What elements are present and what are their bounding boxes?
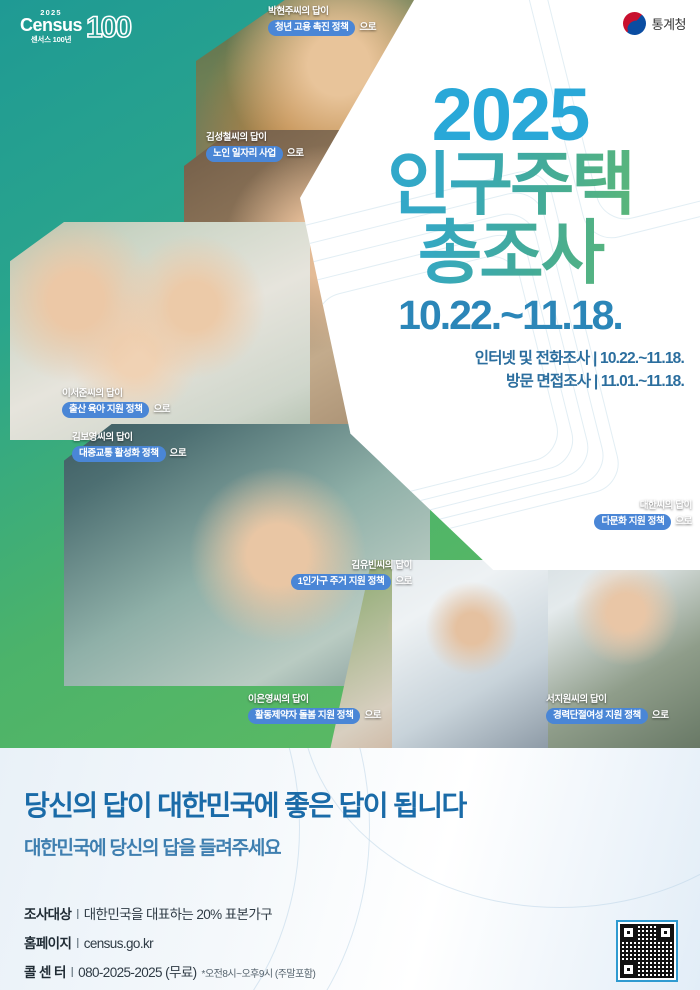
contact-separator: l bbox=[76, 907, 78, 922]
caption-suffix: 으로 bbox=[359, 22, 376, 34]
title-line-2: 총조사 bbox=[330, 219, 690, 288]
caption-person: 서지원씨의 답이 bbox=[546, 694, 669, 706]
slogan-main: 당신의 답이 대한민국에 좋은 답이 됩니다 bbox=[24, 784, 466, 824]
caption-suffix: 으로 bbox=[652, 710, 669, 722]
caption-person: 이서준씨의 답이 bbox=[62, 388, 170, 400]
contact-value: 대한민국을 대표하는 20% 표본가구 bbox=[84, 903, 272, 923]
caption-suffix: 으로 bbox=[287, 148, 304, 160]
contact-label: 콜 센 터 bbox=[24, 961, 66, 981]
logo-korean-text: 센서스 100년 bbox=[14, 34, 88, 45]
title-date-range: 10.22.~11.18. bbox=[330, 293, 690, 338]
taegeuk-icon bbox=[623, 12, 646, 35]
slogan-sub: 대한민국에 당신의 답을 들려주세요 bbox=[24, 833, 466, 860]
caption-person: 김유빈씨의 답이 bbox=[291, 560, 412, 572]
statistics-korea-logo: 통계청 bbox=[623, 10, 686, 36]
contact-row-target: 조사대상 l 대한민국을 대표하는 20% 표본가구 bbox=[24, 903, 315, 923]
callcenter-hours: *오전8시~오후9시 (주말포함) bbox=[202, 965, 316, 980]
phone-number[interactable]: 080-2025-2025 (무료) bbox=[78, 961, 196, 981]
caption-person: 이은영씨의 답이 bbox=[248, 694, 381, 706]
caption-policy-badge: 출산 육아 지원 정책 bbox=[62, 402, 149, 418]
caption-multicultural: 대한씨의 답이 다문화 지원 정책 으로 bbox=[594, 500, 692, 530]
photo-single-household bbox=[392, 560, 552, 748]
agency-name: 통계청 bbox=[652, 14, 686, 33]
caption-suffix: 으로 bbox=[675, 516, 692, 528]
caption-care-support: 이은영씨의 답이 활동제약자 돌봄 지원 정책 으로 bbox=[248, 694, 381, 724]
caption-policy-badge: 경력단절여성 지원 정책 bbox=[546, 708, 648, 724]
caption-suffix: 으로 bbox=[395, 576, 412, 588]
survey-method-visit: 방문 면접조사 | 11.01.~11.18. bbox=[330, 370, 684, 393]
anniversary-100-icon: 100 bbox=[86, 11, 130, 45]
logo-wordmark: Census bbox=[14, 17, 88, 34]
contact-label: 조사대상 bbox=[24, 903, 71, 923]
caption-policy-badge: 청년 고용 촉진 정책 bbox=[268, 20, 355, 36]
contact-label: 홈페이지 bbox=[24, 932, 71, 952]
caption-single-household: 김유빈씨의 답이 1인가구 주거 지원 정책 으로 bbox=[291, 560, 412, 590]
caption-senior-jobs: 김성철씨의 답이 노인 일자리 사업 으로 bbox=[206, 132, 304, 162]
website-link[interactable]: census.go.kr bbox=[84, 936, 153, 951]
contact-row-callcenter: 콜 센 터 l 080-2025-2025 (무료) *오전8시~오후9시 (주… bbox=[24, 961, 315, 981]
title-line-1: 인구주택 bbox=[387, 145, 633, 223]
caption-person: 김보영씨의 답이 bbox=[72, 432, 186, 444]
census-poster: 2025 Census 센서스 100년 100 통계청 박현주씨의 답이 청년… bbox=[0, 0, 700, 990]
caption-person: 김성철씨의 답이 bbox=[206, 132, 304, 144]
survey-method-online: 인터넷 및 전화조사 | 10.22.~11.18. bbox=[330, 347, 684, 370]
caption-childcare: 이서준씨의 답이 출산 육아 지원 정책 으로 bbox=[62, 388, 170, 418]
contact-separator: l bbox=[71, 965, 73, 980]
caption-suffix: 으로 bbox=[170, 448, 187, 460]
contact-info: 조사대상 l 대한민국을 대표하는 20% 표본가구 홈페이지 l census… bbox=[24, 903, 315, 990]
caption-suffix: 으로 bbox=[153, 404, 170, 416]
contact-separator: l bbox=[76, 936, 78, 951]
caption-person: 대한씨의 답이 bbox=[594, 500, 692, 512]
caption-suffix: 으로 bbox=[364, 710, 381, 722]
qr-code-icon bbox=[620, 924, 674, 978]
slogan-block: 당신의 답이 대한민국에 좋은 답이 됩니다 대한민국에 당신의 답을 들려주세… bbox=[24, 784, 466, 860]
photo-collage: 2025 Census 센서스 100년 100 통계청 박현주씨의 답이 청년… bbox=[0, 0, 700, 748]
caption-career-women: 서지원씨의 답이 경력단절여성 지원 정책 으로 bbox=[546, 694, 669, 724]
caption-policy-badge: 노인 일자리 사업 bbox=[206, 146, 283, 162]
qr-code[interactable] bbox=[616, 920, 678, 982]
contact-row-website: 홈페이지 l census.go.kr bbox=[24, 932, 315, 952]
caption-youth-employment: 박현주씨의 답이 청년 고용 촉진 정책 으로 bbox=[268, 6, 376, 36]
title-main: 인구주택 총조사 bbox=[330, 150, 690, 287]
census-100-logo: 2025 Census 센서스 100년 100 bbox=[14, 8, 146, 46]
caption-person: 박현주씨의 답이 bbox=[268, 6, 376, 18]
caption-policy-badge: 활동제약자 돌봄 지원 정책 bbox=[248, 708, 360, 724]
survey-methods: 인터넷 및 전화조사 | 10.22.~11.18. 방문 면접조사 | 11.… bbox=[330, 347, 690, 394]
caption-policy-badge: 1인가구 주거 지원 정책 bbox=[291, 574, 392, 590]
caption-policy-badge: 대중교통 활성화 정책 bbox=[72, 446, 166, 462]
caption-policy-badge: 다문화 지원 정책 bbox=[594, 514, 671, 530]
title-year: 2025 bbox=[330, 80, 690, 150]
caption-public-transport: 김보영씨의 답이 대중교통 활성화 정책 으로 bbox=[72, 432, 186, 462]
poster-title-block: 2025 인구주택 총조사 10.22.~11.18. 인터넷 및 전화조사 |… bbox=[330, 80, 690, 393]
